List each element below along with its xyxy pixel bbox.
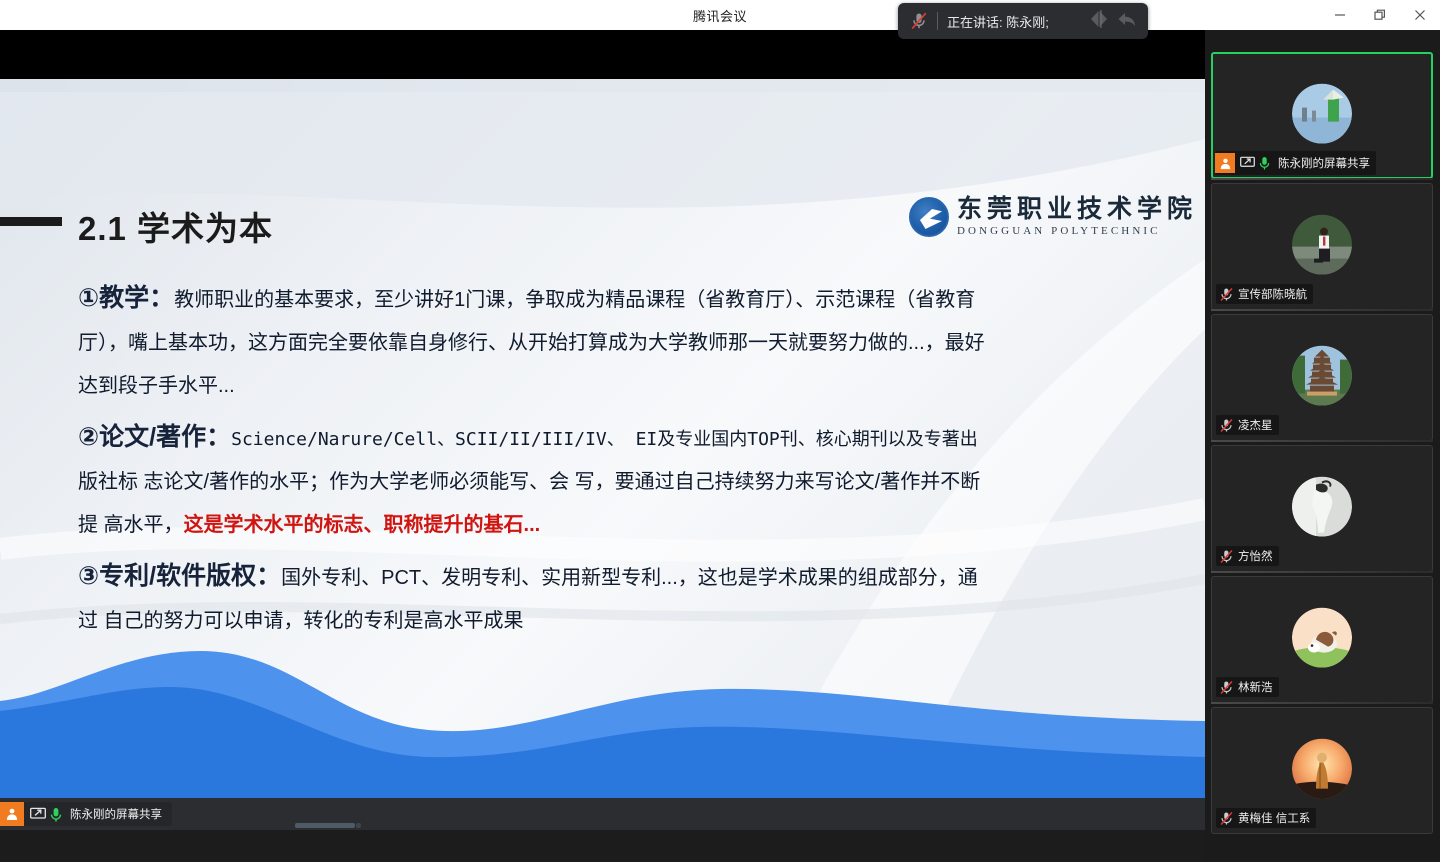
paragraph-2-text-3: 提 高水平，	[78, 514, 184, 536]
name-plate: 陈永刚的屏幕共享	[1215, 151, 1376, 175]
paragraph-2-lead: ②论文/著作：	[78, 423, 231, 451]
avatar	[1292, 476, 1352, 536]
avatar	[1292, 738, 1352, 798]
paragraph-2-line-1: ②论文/著作：Science/Narure/Cell、SCII/II/III/I…	[78, 416, 1138, 461]
name-plate: 宣传部陈晓航	[1216, 284, 1313, 304]
window-title: 腾讯会议	[693, 6, 747, 25]
participant-name: 林新浩	[1238, 679, 1273, 695]
paragraph-1-line-1: ①教学：教师职业的基本要求，至少讲好1门课，争取成为精品课程（省教育厅）、示范课…	[78, 277, 1138, 322]
minimize-button[interactable]	[1320, 0, 1360, 30]
bar-divider	[937, 12, 938, 30]
slide-wave-decoration	[0, 639, 1205, 809]
participant-rail[interactable]: 陈永刚的屏幕共享	[1205, 30, 1440, 862]
paragraph-1-line-2: 厅），嘴上基本功，这方面完全要依靠自身修行、从开始打算成为大学教师那一天就要努力…	[78, 322, 1138, 365]
slide-title: 2.1 学术为本	[78, 202, 273, 250]
institution-logo: 东莞职业技术学院 DONGGUAN POLYTECHNIC	[909, 197, 1197, 237]
rail-separator	[1211, 178, 1433, 180]
participant-tile-0[interactable]: 陈永刚的屏幕共享	[1211, 52, 1433, 179]
bottom-share-label-plate[interactable]: 陈永刚的屏幕共享	[0, 802, 172, 826]
logo-name-en: DONGGUAN POLYTECHNIC	[957, 226, 1197, 237]
avatar	[1292, 83, 1352, 143]
return-arrow-icon[interactable]	[1116, 8, 1138, 35]
shared-screen-stage[interactable]: 2.1 学术为本 东莞职业技术学院 DONGGUAN POLYTECHNIC ①…	[0, 30, 1205, 830]
participant-tile-5[interactable]: 黄梅佳 信工系	[1211, 707, 1433, 834]
slide-body: ①教学：教师职业的基本要求，至少讲好1门课，争取成为精品课程（省教育厅）、示范课…	[78, 277, 1138, 651]
mic-muted-icon	[1219, 680, 1233, 694]
paragraph-3-line-2: 过 自己的努力可以申请，转化的专利是高水平成果	[78, 600, 1138, 643]
participant-tile-1[interactable]: 宣传部陈晓航	[1211, 183, 1433, 310]
rail-separator	[1211, 440, 1433, 442]
avatar	[1292, 345, 1352, 405]
close-icon	[1414, 9, 1426, 21]
paragraph-3-text-1: 国外专利、PCT、发明专利、实用新型专利...，这也是学术成果的组成部分，通	[281, 567, 978, 589]
paragraph-3-line-1: ③专利/软件版权：国外专利、PCT、发明专利、实用新型专利...，这也是学术成果…	[78, 555, 1138, 600]
host-person-icon	[1215, 153, 1235, 173]
maximize-button[interactable]	[1360, 0, 1400, 30]
rail-separator	[1211, 571, 1433, 573]
mic-on-icon	[1259, 156, 1273, 170]
window-controls	[1320, 0, 1440, 30]
name-plate: 方怡然	[1216, 546, 1279, 566]
bottom-share-label: 陈永刚的屏幕共享	[70, 806, 162, 822]
slide-paragraph-2: ②论文/著作：Science/Narure/Cell、SCII/II/III/I…	[78, 416, 1138, 547]
presentation-slide: 2.1 学术为本 东莞职业技术学院 DONGGUAN POLYTECHNIC ①…	[0, 79, 1205, 809]
speaking-bar-actions	[1088, 8, 1138, 35]
avatar	[1292, 214, 1352, 274]
participant-name: 宣传部陈晓航	[1238, 286, 1307, 302]
speaking-indicator-bar[interactable]: 正在讲话: 陈永刚;	[898, 3, 1148, 39]
rail-separator	[1211, 702, 1433, 704]
paragraph-2-highlight: 这是学术水平的标志、职称提升的基石...	[184, 514, 541, 536]
participant-name: 黄梅佳 信工系	[1238, 810, 1310, 826]
logo-name-cn: 东莞职业技术学院	[957, 197, 1197, 222]
paragraph-2-line-3: 提 高水平，这是学术水平的标志、职称提升的基石...	[78, 504, 1138, 547]
paragraph-1-lead: ①教学：	[78, 284, 174, 312]
mic-on-icon	[50, 807, 64, 821]
paragraph-3-lead: ③专利/软件版权：	[78, 562, 281, 590]
mic-muted-icon	[1219, 418, 1233, 432]
avatar	[1292, 607, 1352, 667]
paragraph-1-line-3: 达到段子手水平...	[78, 365, 1138, 408]
name-plate: 林新浩	[1216, 677, 1279, 697]
screen-share-icon	[30, 807, 44, 821]
participant-name: 陈永刚的屏幕共享	[1278, 155, 1370, 171]
close-button[interactable]	[1400, 0, 1440, 30]
participant-tile-4[interactable]: 林新浩	[1211, 576, 1433, 703]
slide-top-strip	[0, 79, 1205, 92]
participant-tile-2[interactable]: 凌杰星	[1211, 314, 1433, 441]
paragraph-1-text-1: 教师职业的基本要求，至少讲好1门课，争取成为精品课程（省教育厅）、示范课程（省教…	[174, 289, 975, 311]
name-plate: 凌杰星	[1216, 415, 1279, 435]
slide-paragraph-1: ①教学：教师职业的基本要求，至少讲好1门课，争取成为精品课程（省教育厅）、示范课…	[78, 277, 1138, 408]
restore-icon	[1374, 9, 1386, 21]
slide-title-rule	[0, 217, 62, 226]
participant-name: 方怡然	[1238, 548, 1273, 564]
dongguan-polytechnic-emblem-icon	[909, 197, 949, 237]
rail-separator	[1211, 309, 1433, 311]
logo-text: 东莞职业技术学院 DONGGUAN POLYTECHNIC	[957, 197, 1197, 237]
participant-tile-3[interactable]: 方怡然	[1211, 445, 1433, 572]
speaking-status-text: 正在讲话: 陈永刚;	[947, 12, 1088, 31]
screen-share-icon	[1240, 156, 1254, 170]
participant-name: 凌杰星	[1238, 417, 1273, 433]
mic-muted-icon	[1219, 811, 1233, 825]
paragraph-2-journals: Science/Narure/Cell、SCII/II/III/IV、 EI及专…	[231, 429, 978, 450]
name-plate: 黄梅佳 信工系	[1216, 808, 1316, 828]
bottom-mini-slider[interactable]	[295, 823, 355, 828]
mic-muted-icon	[1219, 549, 1233, 563]
host-person-icon	[0, 802, 24, 826]
slide-paragraph-3: ③专利/软件版权：国外专利、PCT、发明专利、实用新型专利...，这也是学术成果…	[78, 555, 1138, 643]
share-bottom-bar: 陈永刚的屏幕共享	[0, 798, 1205, 830]
window-titlebar: 腾讯会议	[0, 0, 1440, 30]
mic-muted-icon[interactable]	[908, 10, 930, 32]
minimize-icon	[1334, 9, 1346, 21]
mic-muted-icon	[1219, 287, 1233, 301]
collapse-arrows-icon[interactable]	[1088, 8, 1114, 35]
paragraph-2-line-2: 版社标 志论文/著作的水平；作为大学老师必须能写、会 写，要通过自己持续努力来写…	[78, 461, 1138, 504]
